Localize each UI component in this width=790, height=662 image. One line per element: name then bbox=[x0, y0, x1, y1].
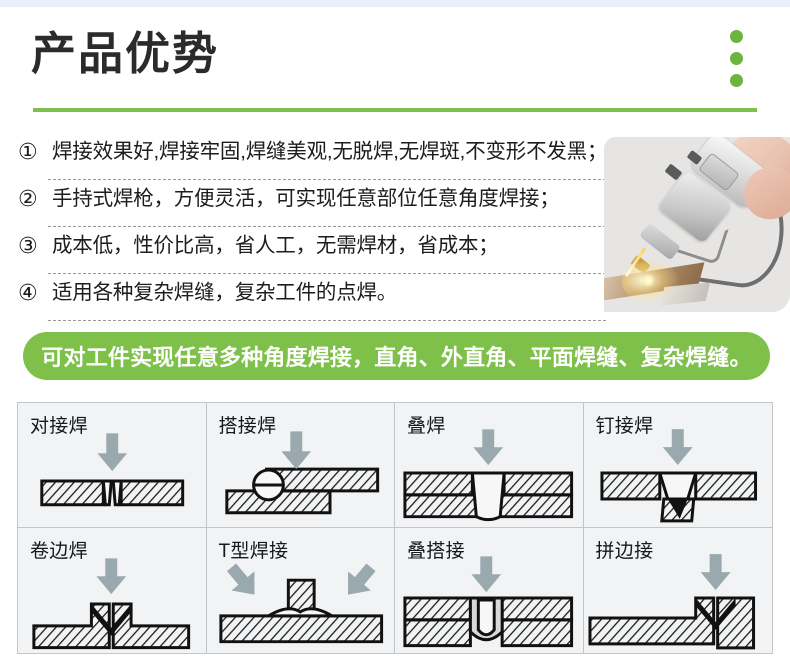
weld-cell-stack-weld[interactable]: 叠焊 bbox=[395, 403, 584, 528]
weld-cell-butt-weld[interactable]: 对接焊 bbox=[18, 403, 207, 528]
highlight-banner-text: 可对工件实现任意多种角度焊接，直角、外直角、平面焊缝、复杂焊缝。 bbox=[41, 340, 751, 372]
list-item: ② 手持式焊枪，方便灵活，可实现任意部位任意角度焊接； bbox=[18, 180, 614, 226]
list-item: ① 焊接效果好,焊接牢固,焊缝美观,无脱焊,无焊斑,不变形不发黑； bbox=[18, 133, 614, 179]
dot-icon-2 bbox=[730, 52, 743, 65]
list-item-number: ④ bbox=[18, 278, 52, 308]
weld-cell-stacked-lap-weld[interactable]: 叠搭接 bbox=[395, 528, 584, 653]
top-accent-band bbox=[0, 0, 790, 7]
flange-weld-diagram-icon bbox=[18, 554, 206, 653]
dot-icon-1 bbox=[730, 30, 743, 43]
butt-weld-diagram-icon bbox=[18, 429, 206, 528]
weld-type-grid: 对接焊 搭接 bbox=[17, 402, 773, 654]
dot-icon-3 bbox=[730, 74, 743, 87]
list-item-text: 手持式焊枪，方便灵活，可实现任意部位任意角度焊接； bbox=[52, 184, 560, 214]
list-item: ③ 成本低，性价比高，省人工，无需焊材，省成本； bbox=[18, 227, 614, 273]
weld-cell-plug-weld[interactable]: 钉接焊 bbox=[584, 403, 773, 528]
list-item-number: ① bbox=[18, 137, 52, 167]
tee-weld-diagram-icon bbox=[207, 554, 395, 653]
product-photo-image bbox=[604, 137, 790, 312]
list-item: ④ 适用各种复杂焊缝，复杂工件的点焊。 bbox=[18, 274, 614, 320]
highlight-banner: 可对工件实现任意多种角度焊接，直角、外直角、平面焊缝、复杂焊缝。 bbox=[23, 332, 770, 380]
list-item-text: 焊接效果好,焊接牢固,焊缝美观,无脱焊,无焊斑,不变形不发黑； bbox=[52, 137, 607, 167]
title-underline-rule bbox=[33, 108, 757, 112]
decorative-dot-stack bbox=[730, 30, 743, 87]
stacked-lap-weld-diagram-icon bbox=[395, 554, 583, 653]
product-photo bbox=[604, 137, 790, 312]
page-title: 产品优势 bbox=[31, 26, 219, 82]
stack-weld-diagram-icon bbox=[395, 429, 583, 528]
edge-join-weld-diagram-icon bbox=[584, 554, 773, 653]
product-advantages-page: 产品优势 ① 焊接效果好,焊接牢固,焊缝美观,无脱焊,无焊斑,不变形不发黑； ②… bbox=[0, 0, 790, 662]
list-separator bbox=[48, 320, 606, 321]
list-item-number: ③ bbox=[18, 231, 52, 261]
list-item-text: 适用各种复杂焊缝，复杂工件的点焊。 bbox=[52, 278, 397, 308]
weld-cell-flange-weld[interactable]: 卷边焊 bbox=[18, 528, 207, 653]
list-item-text: 成本低，性价比高，省人工，无需焊材，省成本； bbox=[52, 231, 499, 261]
list-item-number: ② bbox=[18, 184, 52, 214]
weld-cell-lap-weld[interactable]: 搭接焊 bbox=[207, 403, 396, 528]
welding-nozzle bbox=[639, 222, 681, 260]
weld-spark-core bbox=[642, 274, 655, 287]
weld-cell-tee-weld[interactable]: T型焊接 bbox=[207, 528, 396, 653]
plug-weld-diagram-icon bbox=[584, 429, 773, 528]
advantages-list: ① 焊接效果好,焊接牢固,焊缝美观,无脱焊,无焊斑,不变形不发黑； ② 手持式焊… bbox=[18, 133, 614, 321]
weld-cell-edge-join-weld[interactable]: 拼边接 bbox=[584, 528, 773, 653]
lap-weld-diagram-icon bbox=[207, 429, 395, 528]
